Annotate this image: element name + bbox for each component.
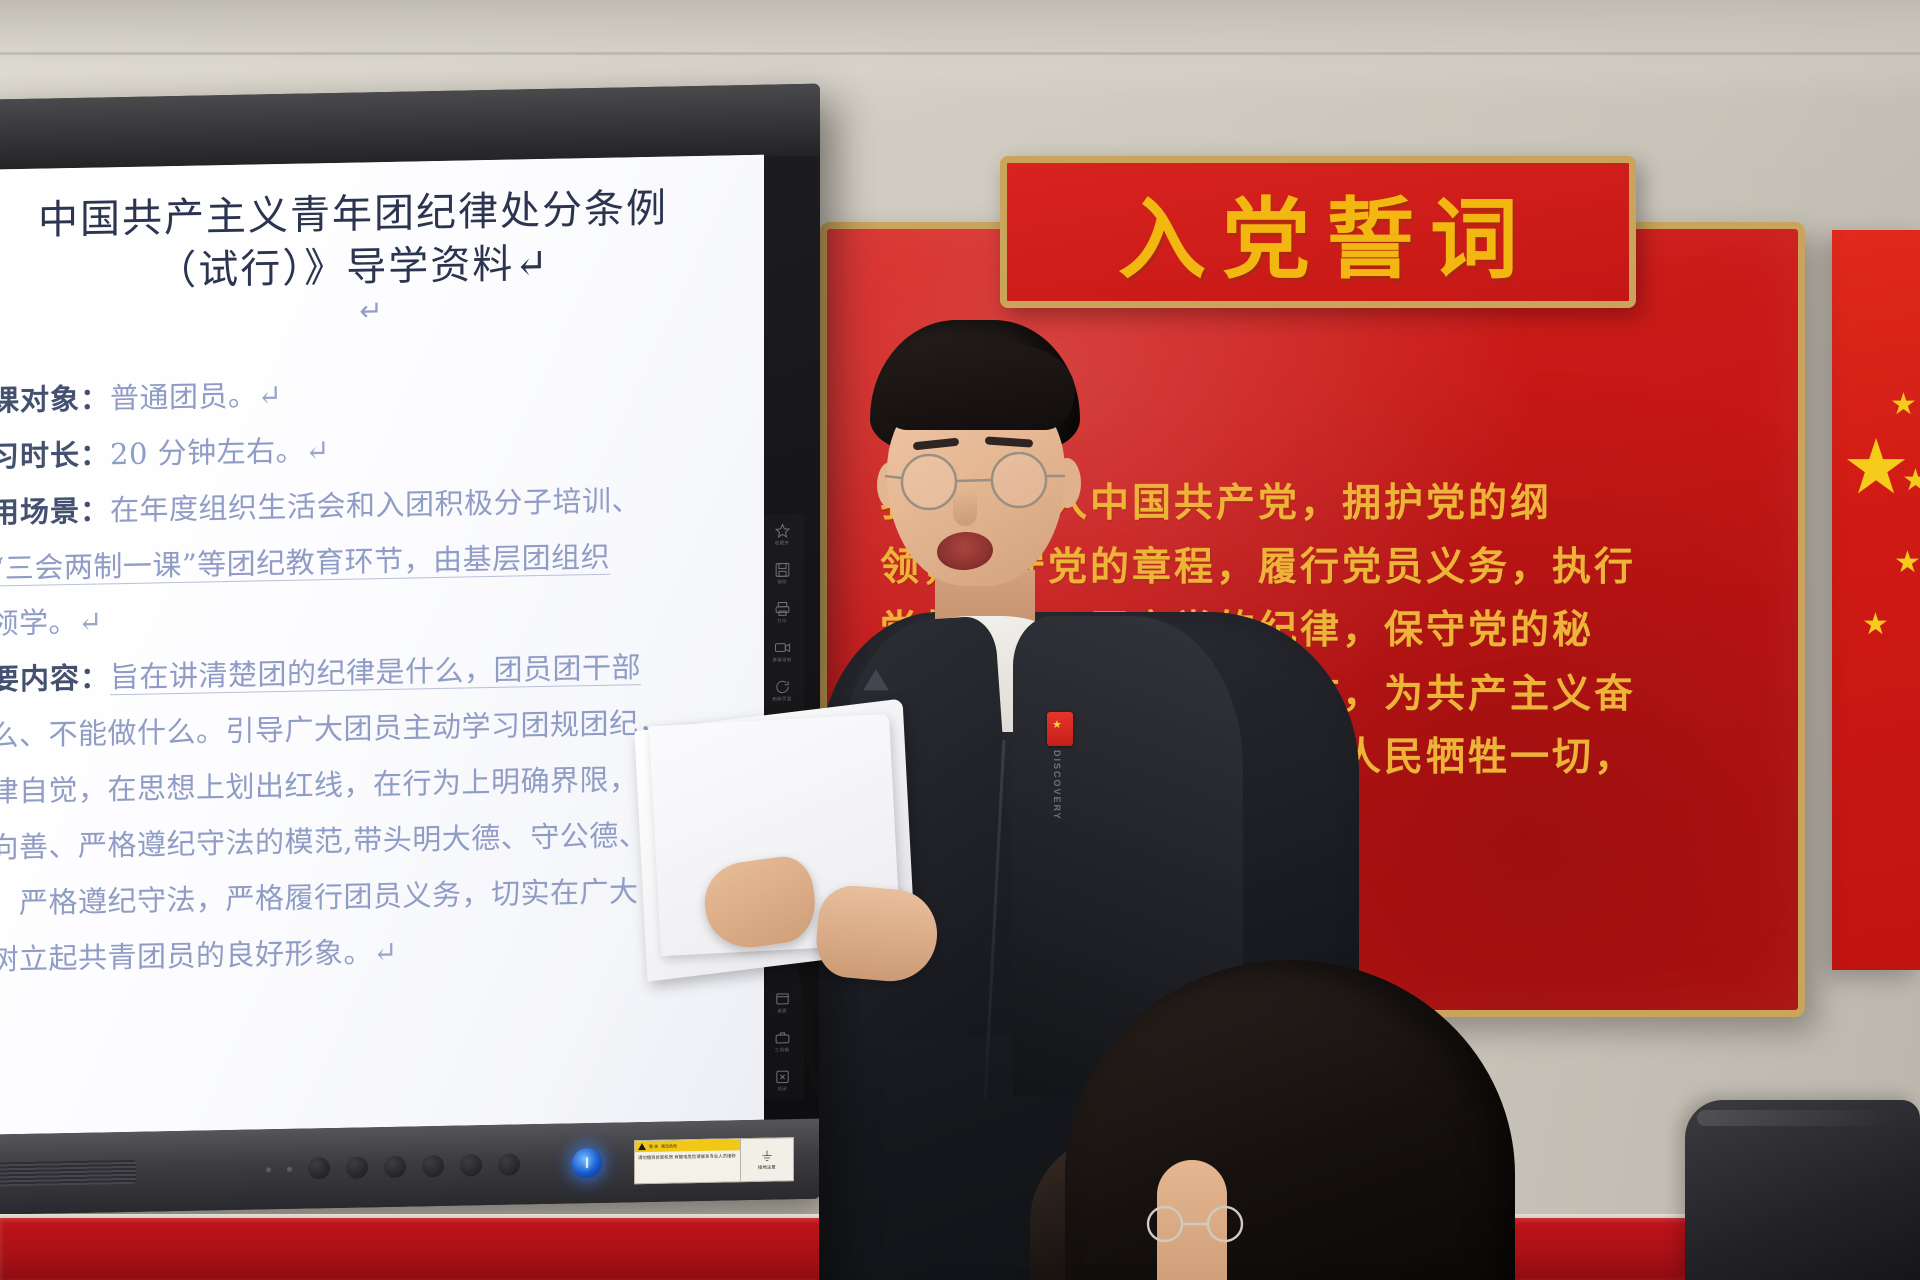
party-oath-title: 入党誓词 xyxy=(1102,169,1534,296)
party-oath-header-plaque: 入党誓词 xyxy=(1000,156,1636,308)
ceiling-line xyxy=(0,52,1920,55)
flag-star-4: ★ xyxy=(1862,610,1889,640)
warning-body: 请勿擅自拆卸机壳 有触电危险请联系专业人员维修 xyxy=(635,1150,740,1165)
toolbar-caption: 打印 xyxy=(777,618,787,624)
seated-student-front xyxy=(1065,960,1515,1280)
star-icon[interactable]: 收藏夹 xyxy=(762,514,802,554)
board-button[interactable] xyxy=(308,1157,330,1179)
slide-body: 授课对象：普通团员。↵ 学习时长：20 分钟左右。↵ 适用场景：在年度组织生活会… xyxy=(0,359,746,989)
slide-line-label: 主要内容： xyxy=(0,661,110,698)
ground-label: 接地注意 xyxy=(758,1165,776,1171)
power-button[interactable] xyxy=(572,1148,602,1179)
slide-line-value: 纪律自觉，在思想上划出红线，在行为上明确界限， xyxy=(0,763,639,810)
slide-line-value: 人领学。 xyxy=(0,605,78,641)
flag-star-large: ★ xyxy=(1842,430,1910,506)
slide-line-label: 授课对象： xyxy=(0,381,110,418)
board-button[interactable] xyxy=(346,1156,368,1178)
power-led xyxy=(266,1167,271,1172)
slide-line-value: 20 分钟左右。 xyxy=(110,433,305,471)
ground-icon xyxy=(760,1149,774,1163)
slide-line-value: 什么、不能做什么。引导广大团员主动学习团规团纪， xyxy=(0,706,668,754)
classroom-chair xyxy=(1685,1100,1920,1280)
toolbar-caption: 刷新页面 xyxy=(772,696,791,702)
jacket-logo-icon xyxy=(859,662,893,696)
screenshot-icon[interactable]: 屏幕录制 xyxy=(762,631,802,671)
refresh-icon[interactable]: 刷新页面 xyxy=(762,670,802,710)
jacket-brand-text: DISCOVERY xyxy=(1052,750,1062,821)
warning-triangle-icon xyxy=(638,1143,646,1150)
toolbar-caption: 关闭 xyxy=(777,1086,787,1092)
eyeglasses-icon xyxy=(1135,1204,1255,1244)
classroom-scene: ★ ★ ★ ★ ★ 我志愿加入中国共产党，拥护党的纲 领，遵守党的章程，履行党员… xyxy=(0,0,1920,1280)
slide-line-value: 中树立起共青团员的良好形象。 xyxy=(0,936,373,978)
ir-sensor xyxy=(287,1166,292,1171)
smart-board-button-row[interactable] xyxy=(266,1148,602,1184)
flag-star-1: ★ xyxy=(1890,390,1917,420)
board-button[interactable] xyxy=(460,1154,482,1176)
warning-header-sub: 高压危险 xyxy=(661,1143,677,1149)
flag-star-2: ★ xyxy=(1902,466,1920,496)
toolbar-caption: 保存 xyxy=(777,579,787,585)
slide-line-return: ↵ xyxy=(78,605,103,639)
slide-line-return: ↵ xyxy=(373,935,398,969)
slide-line-label: 适用场景： xyxy=(0,493,110,530)
smart-board[interactable]: 中国共产主义青年团纪律处分条例 （试行）》导学资料↵ ↵ 授课对象：普通团员。↵… xyxy=(0,84,820,1215)
speaker-nose xyxy=(953,488,977,526)
toolbar-caption: 收藏夹 xyxy=(775,540,789,546)
smart-board-bottom-bezel: 警 告 高压危险 请勿擅自拆卸机壳 有触电危险请联系专业人员维修 接地注意 xyxy=(0,1119,820,1215)
chinese-flag-panel: ★ ★ ★ ★ ★ xyxy=(1832,230,1920,970)
warning-label-left: 警 告 高压危险 请勿擅自拆卸机壳 有触电危险请联系专业人员维修 xyxy=(635,1139,740,1183)
slide-line-value: 部“三会两制一课”等团纪教育环节，由基层团组织 xyxy=(0,539,610,586)
warning-header: 警 告 xyxy=(649,1143,658,1149)
party-emblem-pin: ★ xyxy=(1047,712,1073,746)
print-icon[interactable]: 打印 xyxy=(762,592,802,632)
toolbar-caption: 工具箱 xyxy=(775,1047,789,1053)
board-button[interactable] xyxy=(498,1153,520,1175)
board-button[interactable] xyxy=(384,1156,406,1178)
slide-line-value: 德，严格遵纪守法，严格履行团员义务，切实在广大 xyxy=(0,874,639,921)
chair-highlight xyxy=(1697,1110,1897,1126)
slide-line-return: ↵ xyxy=(258,378,283,412)
speaker-grille xyxy=(0,1160,136,1187)
flag-star-3: ★ xyxy=(1894,548,1920,578)
warning-label: 警 告 高压危险 请勿擅自拆卸机壳 有触电危险请联系专业人员维修 接地注意 xyxy=(634,1137,794,1184)
ceiling-shadow xyxy=(0,0,1920,70)
board-button[interactable] xyxy=(422,1155,444,1177)
slide-line-label: 学习时长： xyxy=(0,437,110,474)
presentation-slide: 中国共产主义青年团纪律处分条例 （试行）》导学资料↵ ↵ 授课对象：普通团员。↵… xyxy=(0,155,764,1135)
warning-label-right: 接地注意 xyxy=(740,1138,793,1181)
slide-line-value: 普通团员。 xyxy=(110,378,258,415)
toolbar-caption: 桌面 xyxy=(777,1008,787,1014)
slide-line-value: 德向善、严格遵纪守法的模范,带头明大德、守公德、 xyxy=(0,818,648,865)
eyeglasses-icon xyxy=(883,452,1073,512)
save-icon[interactable]: 保存 xyxy=(762,553,802,593)
speaker-hair-fringe xyxy=(877,344,1075,430)
slide-line-return: ↵ xyxy=(305,433,330,467)
student-hair xyxy=(1065,960,1515,1280)
smart-board-screen[interactable]: 中国共产主义青年团纪律处分条例 （试行）》导学资料↵ ↵ 授课对象：普通团员。↵… xyxy=(0,155,764,1135)
toolbar-caption: 屏幕录制 xyxy=(772,657,791,663)
slide-line-value: 旨在讲清楚团的纪律是什么，团员团干部 xyxy=(110,651,641,696)
slide-line-value: 在年度组织生活会和入团积极分子培训、 xyxy=(110,483,641,527)
